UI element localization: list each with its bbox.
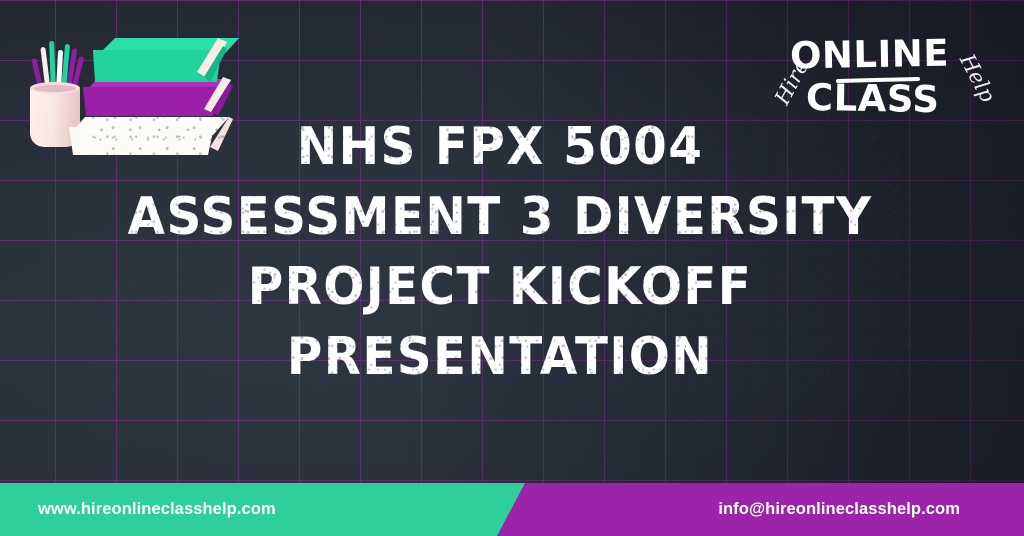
footer-bar: www.hireonlineclasshelp.com info@hireonl… bbox=[0, 483, 1024, 536]
page-title: NHS FPX 5004 Assessment 3 Diversity Proj… bbox=[91, 112, 909, 392]
title-line-4: Presentation bbox=[91, 322, 909, 392]
title-line-2: Assessment 3 Diversity bbox=[91, 182, 909, 252]
logo-word-online: ONLINE bbox=[790, 35, 950, 75]
pen-cup-inner bbox=[34, 85, 76, 92]
title-line-1: NHS FPX 5004 bbox=[91, 112, 909, 182]
promo-banner: Hire ONLINE CLASS Help NHS FPX 5004 Asse… bbox=[0, 0, 1024, 536]
title-line-3: Project Kickoff bbox=[91, 252, 909, 322]
footer-website-link[interactable]: www.hireonlineclasshelp.com bbox=[38, 483, 276, 536]
footer-email-link[interactable]: info@hireonlineclasshelp.com bbox=[718, 483, 960, 536]
